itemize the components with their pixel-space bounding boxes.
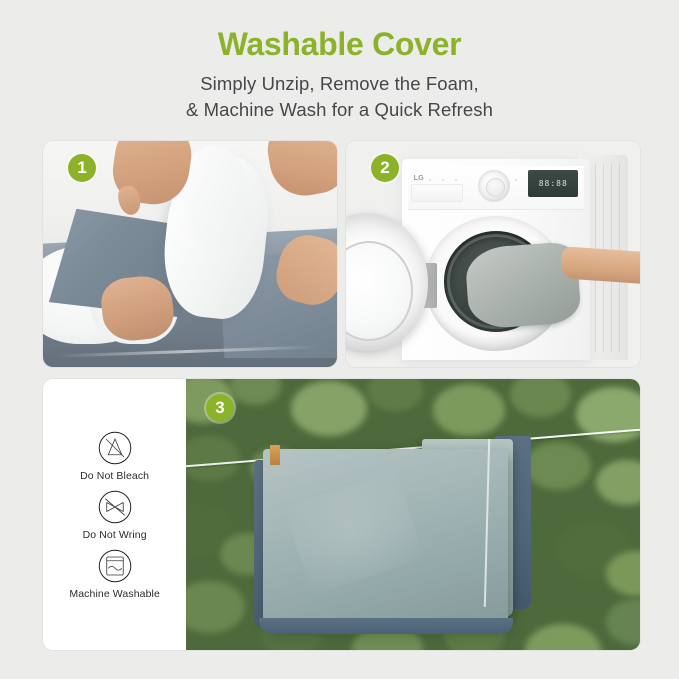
care-label-do-not-bleach: Do Not Bleach <box>80 470 149 482</box>
step-badge-3: 3 <box>206 394 234 422</box>
step-badge-2: 2 <box>371 154 399 182</box>
care-item-do-not-wring: Do Not Wring <box>83 489 147 541</box>
washer-door-glass <box>345 241 413 340</box>
brand-tag <box>270 445 280 465</box>
subtitle-line-2: & Machine Wash for a Quick Refresh <box>0 97 679 123</box>
page-title: Washable Cover <box>0 26 679 63</box>
machine-washable-icon <box>97 548 133 584</box>
care-item-do-not-bleach: Do Not Bleach <box>80 430 149 482</box>
do-not-wring-icon <box>97 489 133 525</box>
do-not-bleach-icon <box>97 430 133 466</box>
care-label-machine-washable: Machine Washable <box>69 588 160 600</box>
header: Washable Cover Simply Unzip, Remove the … <box>0 0 679 123</box>
step-3-image <box>186 379 640 650</box>
care-label-do-not-wring: Do Not Wring <box>83 529 147 541</box>
care-instructions-list: Do Not Bleach Do Not Wring Machine Washa… <box>43 379 186 650</box>
step-badge-1: 1 <box>68 154 96 182</box>
cover-bottom-trim <box>259 618 513 634</box>
subtitle-line-1: Simply Unzip, Remove the Foam, <box>0 71 679 97</box>
care-item-machine-washable: Machine Washable <box>69 548 160 600</box>
hand-arm <box>560 247 641 284</box>
step-3-panel: Do Not Bleach Do Not Wring Machine Washa… <box>42 378 641 651</box>
washer-digital-display: 88:88 <box>528 170 578 197</box>
washer-display-value: 88:88 <box>539 179 568 188</box>
washer-dial-inner <box>486 178 505 197</box>
